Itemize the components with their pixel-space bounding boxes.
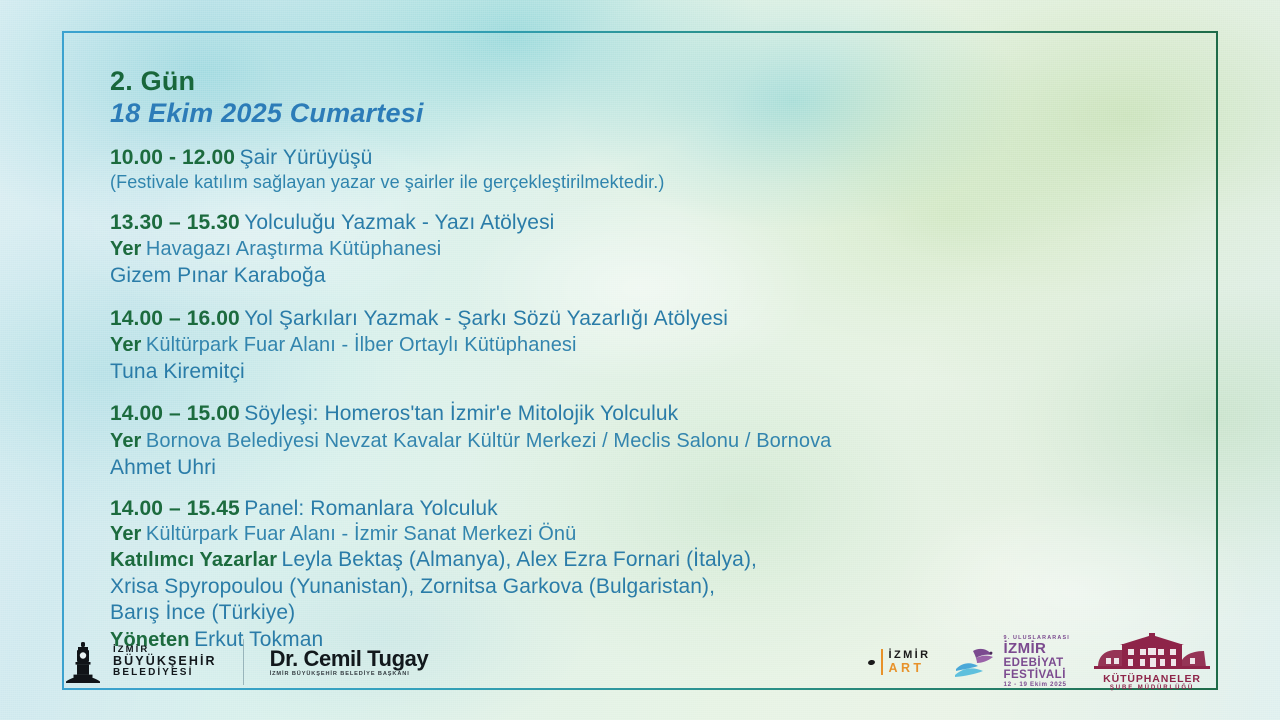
clock-tower-icon: [62, 640, 104, 684]
event-title: Panel: Romanlara Yolculuk: [244, 497, 498, 520]
event-item: 14.00 – 16.00 Yol Şarkıları Yazmak - Şar…: [110, 305, 1200, 386]
event-heading: 14.00 – 15.45 Panel: Romanlara Yolculuk: [110, 496, 1200, 522]
event-time: 14.00 – 15.45: [110, 497, 240, 520]
participants-row-2: Xrisa Spyropoulou (Yunanistan), Zornitsa…: [110, 575, 715, 598]
tugay-subtitle: İZMİR BÜYÜKŞEHİR BELEDİYE BAŞKANI: [270, 672, 429, 678]
day-date: 18 Ekim 2025 Cumartesi: [110, 98, 1200, 130]
day-title: 2. Gün: [110, 66, 1200, 98]
event-person: Ahmet Uhri: [110, 456, 216, 479]
footer-divider: [243, 639, 244, 685]
event-participants-line: Katılımcı Yazarlar Leyla Bektaş (Almanya…: [110, 547, 1200, 573]
event-person-line: Tuna Kiremitçi: [110, 358, 1200, 385]
venue-value: Havagazı Araştırma Kütüphanesi: [146, 238, 441, 260]
participants-label: Katılımcı Yazarlar: [110, 549, 277, 571]
kutuphaneler-sube-mudurlugu-logo: KÜTÜPHANELER ŞUBE MÜDÜRLÜĞÜ: [1092, 633, 1212, 692]
event-time: 10.00 - 12.00: [110, 146, 235, 169]
event-venue-line: Yer Bornova Belediyesi Nevzat Kavalar Kü…: [110, 428, 1200, 454]
izmir-buyuksehir-belediyesi-logo: İZMİR BÜYÜKŞEHİR BELEDİYESİ: [62, 640, 217, 684]
event-participants-line: Xrisa Spyropoulou (Yunanistan), Zornitsa…: [110, 574, 1200, 600]
event-time: 14.00 – 15.00: [110, 402, 240, 425]
event-person-line: Gizem Pınar Karaboğa: [110, 262, 1200, 289]
frame-left-edge: [62, 31, 64, 690]
kutuphaneler-line-2: ŞUBE MÜDÜRLÜĞÜ: [1092, 685, 1212, 691]
festival-program-poster: 2. Gün 18 Ekim 2025 Cumartesi 10.00 - 12…: [0, 0, 1280, 720]
footer-left-logos: İZMİR BÜYÜKŞEHİR BELEDİYESİ Dr. Cemil Tu…: [62, 639, 428, 685]
event-person: Gizem Pınar Karaboğa: [110, 264, 326, 287]
library-building-icon: [1092, 633, 1212, 673]
event-title: Yol Şarkıları Yazmak - Şarkı Sözü Yazarl…: [244, 307, 728, 330]
event-heading: 10.00 - 12.00 Şair Yürüyüşü: [110, 144, 1200, 171]
festival-wordmark: 9. ULUSLARARASI İZMİR EDEBİYAT FESTİVALİ…: [1003, 636, 1070, 688]
event-title: Söyleşi: Homeros'tan İzmir'e Mitolojik Y…: [244, 402, 678, 425]
event-time: 13.30 – 15.30: [110, 211, 240, 234]
kutuphaneler-line-1: KÜTÜPHANELER: [1092, 674, 1212, 685]
event-item: 14.00 – 15.00 Söyleşi: Homeros'tan İzmir…: [110, 400, 1200, 481]
venue-label: Yer: [110, 238, 141, 260]
festival-line-4: 12 - 19 Ekim 2025: [1003, 682, 1070, 688]
event-heading: 14.00 – 16.00 Yol Şarkıları Yazmak - Şar…: [110, 305, 1200, 332]
event-note: (Festivale katılım sağlayan yazar ve şai…: [110, 171, 1200, 194]
event-venue-line: Yer Kültürpark Fuar Alanı - İlber Ortayl…: [110, 332, 1200, 358]
program-content: 2. Gün 18 Ekim 2025 Cumartesi 10.00 - 12…: [110, 66, 1200, 668]
venue-label: Yer: [110, 523, 141, 545]
izart-line-2: ART: [889, 661, 931, 675]
venue-value: Bornova Belediyesi Nevzat Kavalar Kültür…: [146, 430, 832, 452]
event-venue-line: Yer Havagazı Araştırma Kütüphanesi: [110, 236, 1200, 262]
festival-line-3: FESTİVALİ: [1003, 669, 1070, 681]
izmir-belediyesi-wordmark: İZMİR BÜYÜKŞEHİR BELEDİYESİ: [113, 645, 217, 680]
venue-label: Yer: [110, 334, 141, 356]
event-item: 13.30 – 15.30 Yolculuğu Yazmak - Yazı At…: [110, 209, 1200, 290]
frame-top-edge: [62, 31, 1218, 33]
ibb-line-3: BELEDİYESİ: [113, 668, 217, 679]
festival-line-1: İZMİR: [1003, 641, 1070, 656]
izmir-edebiyat-festivali-logo: 9. ULUSLARARASI İZMİR EDEBİYAT FESTİVALİ…: [952, 636, 1070, 688]
event-venue-line: Yer Kültürpark Fuar Alanı - İzmir Sanat …: [110, 522, 1200, 547]
venue-label: Yer: [110, 430, 141, 452]
event-title: Yolculuğu Yazmak - Yazı Atölyesi: [244, 211, 554, 234]
event-time: 14.00 – 16.00: [110, 307, 240, 330]
vertical-bar-icon: [881, 649, 883, 675]
festival-line-2: EDEBİYAT: [1003, 657, 1070, 669]
event-heading: 13.30 – 15.30 Yolculuğu Yazmak - Yazı At…: [110, 209, 1200, 236]
tugay-name: Dr. Cemil Tugay: [270, 647, 429, 670]
participants-row-1: Leyla Bektaş (Almanya), Alex Ezra Fornar…: [282, 548, 757, 571]
izmir-art-wordmark: İZMİR ART: [889, 649, 931, 675]
event-item: 10.00 - 12.00 Şair Yürüyüşü (Festivale k…: [110, 144, 1200, 194]
frame-right-edge: [1216, 31, 1218, 690]
event-participants-line: Barış İnce (Türkiye): [110, 600, 1200, 626]
event-heading: 14.00 – 15.00 Söyleşi: Homeros'tan İzmir…: [110, 400, 1200, 427]
venue-value: Kültürpark Fuar Alanı - İzmir Sanat Merk…: [146, 523, 576, 545]
event-person-line: Ahmet Uhri: [110, 454, 1200, 481]
izart-line-1: İZMİR: [889, 649, 931, 661]
event-title: Şair Yürüyüşü: [240, 146, 373, 169]
event-person: Tuna Kiremitçi: [110, 360, 245, 383]
dot-icon: [867, 659, 875, 665]
participants-row-3: Barış İnce (Türkiye): [110, 601, 295, 624]
footer-right-logos: İZMİR ART 9. ULUSLARARASI İZMİR EDEBİYAT…: [868, 633, 1218, 692]
footer-logo-bar: İZMİR BÜYÜKŞEHİR BELEDİYESİ Dr. Cemil Tu…: [62, 626, 1218, 698]
izmir-art-logo: İZMİR ART: [868, 649, 931, 675]
dr-cemil-tugay-logo: Dr. Cemil Tugay İZMİR BÜYÜKŞEHİR BELEDİY…: [270, 647, 429, 678]
wave-bird-icon: [952, 642, 998, 682]
venue-value: Kültürpark Fuar Alanı - İlber Ortaylı Kü…: [146, 334, 577, 356]
